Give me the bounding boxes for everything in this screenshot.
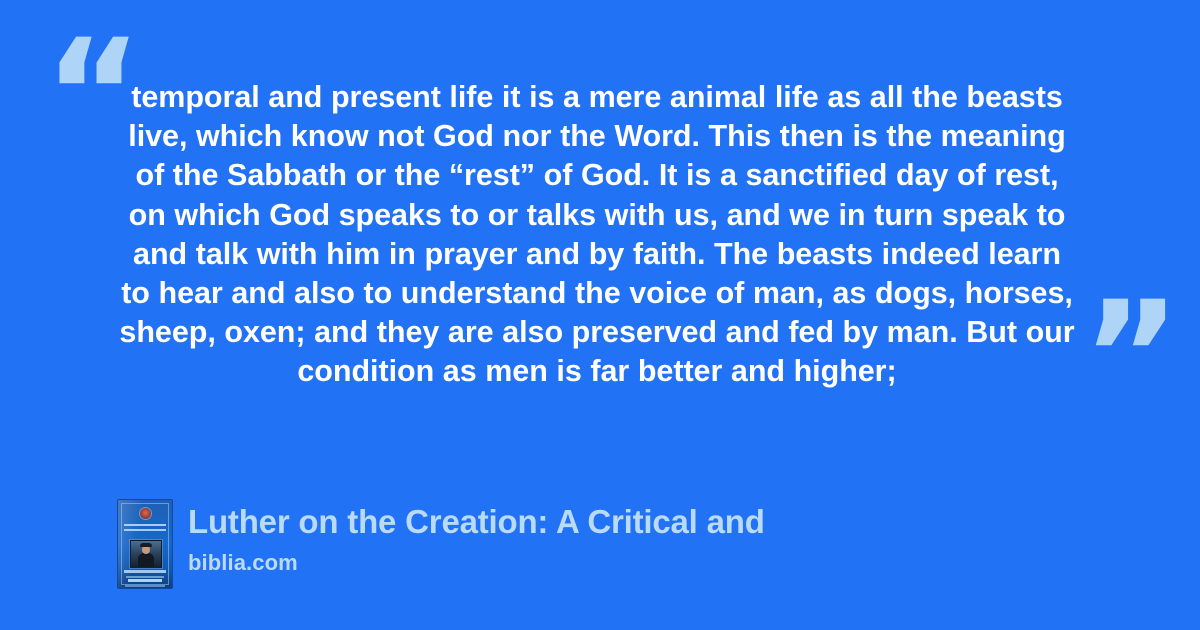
book-cover-thumbnail[interactable]: [118, 500, 172, 588]
book-cover-subtitle-line: [124, 570, 166, 573]
source-domain[interactable]: biblia.com: [188, 548, 765, 578]
portrait-body: [138, 553, 154, 567]
book-cover-subtitle-line-secondary: [126, 576, 164, 578]
book-cover-footer-line-secondary: [125, 585, 165, 587]
quote-text: temporal and present life it is a mere a…: [115, 78, 1079, 392]
quote-card: “ temporal and present life it is a mere…: [0, 0, 1200, 630]
attribution-text-block: Luther on the Creation: A Critical and b…: [188, 500, 765, 578]
book-cover-footer-line: [128, 579, 162, 582]
book-cover-portrait: [130, 540, 162, 568]
closing-quote-icon: ”: [1082, 282, 1179, 432]
book-cover-title-lines: [124, 524, 166, 536]
book-title[interactable]: Luther on the Creation: A Critical and: [188, 502, 765, 542]
book-cover-seal-icon: [140, 508, 151, 519]
attribution-footer: Luther on the Creation: A Critical and b…: [118, 500, 765, 588]
portrait-hat: [140, 543, 152, 547]
